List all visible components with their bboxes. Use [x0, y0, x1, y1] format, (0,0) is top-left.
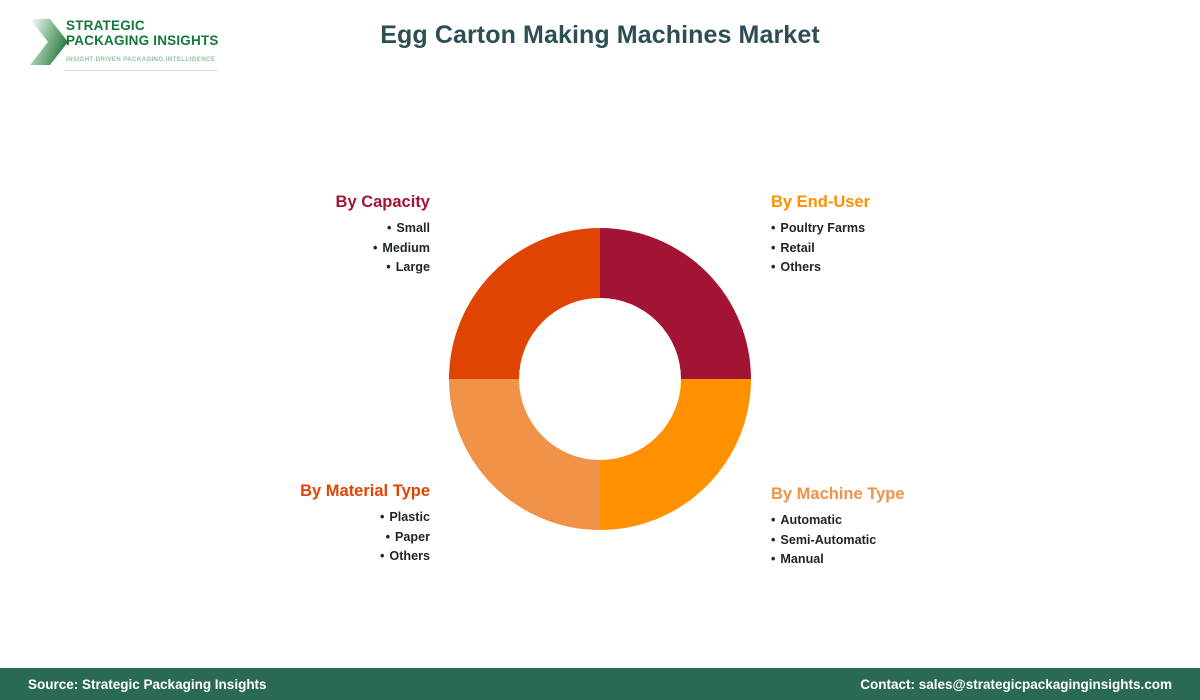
list-item: •Others — [771, 258, 1071, 278]
segment-machine-type-title: By Machine Type — [771, 485, 1071, 504]
donut-slice — [449, 379, 600, 530]
list-item-label: Small — [396, 221, 430, 235]
segment-capacity: By Capacity •Small •Medium •Large — [190, 193, 430, 278]
list-item-label: Poultry Farms — [780, 221, 865, 235]
logo-divider — [64, 70, 218, 71]
bullet-icon: • — [771, 533, 775, 547]
list-item: •Manual — [771, 550, 1071, 570]
list-item-label: Retail — [780, 241, 814, 255]
bullet-icon: • — [386, 530, 390, 544]
donut-chart — [449, 228, 751, 530]
list-item-label: Others — [780, 260, 821, 274]
segment-end-user-title: By End-User — [771, 193, 1071, 212]
list-item-label: Semi-Automatic — [780, 533, 876, 547]
footer-bar: Source: Strategic Packaging Insights Con… — [0, 668, 1200, 700]
page-title: Egg Carton Making Machines Market — [0, 21, 1200, 50]
segment-machine-type: By Machine Type •Automatic •Semi-Automat… — [771, 485, 1071, 570]
donut-slice — [600, 379, 751, 530]
list-item-label: Manual — [780, 552, 823, 566]
list-item-label: Others — [389, 549, 430, 563]
segment-material-type-list: •Plastic •Paper •Others — [190, 508, 430, 567]
list-item: •Medium — [190, 239, 430, 259]
bullet-icon: • — [387, 221, 391, 235]
bullet-icon: • — [380, 549, 384, 563]
list-item: •Semi-Automatic — [771, 531, 1071, 551]
list-item: •Plastic — [190, 508, 430, 528]
list-item-label: Automatic — [780, 513, 842, 527]
segment-capacity-list: •Small •Medium •Large — [190, 219, 430, 278]
list-item: •Poultry Farms — [771, 219, 1071, 239]
bullet-icon: • — [373, 241, 377, 255]
infographic-page: STRATEGIC PACKAGING INSIGHTS INSIGHT-DRI… — [0, 0, 1200, 700]
list-item: •Paper — [190, 528, 430, 548]
bullet-icon: • — [771, 260, 775, 274]
list-item-label: Paper — [395, 530, 430, 544]
list-item: •Others — [190, 547, 430, 567]
segment-material-type-title: By Material Type — [190, 482, 430, 501]
bullet-icon: • — [771, 241, 775, 255]
segment-machine-type-list: •Automatic •Semi-Automatic •Manual — [771, 511, 1071, 570]
list-item: •Large — [190, 258, 430, 278]
list-item: •Retail — [771, 239, 1071, 259]
footer-contact: Contact: sales@strategicpackaginginsight… — [860, 677, 1172, 692]
footer-source: Source: Strategic Packaging Insights — [28, 677, 267, 692]
logo-tagline: INSIGHT-DRIVEN PACKAGING INTELLIGENCE — [66, 56, 218, 63]
list-item: •Automatic — [771, 511, 1071, 531]
segment-capacity-title: By Capacity — [190, 193, 430, 212]
segment-material-type: By Material Type •Plastic •Paper •Others — [190, 482, 430, 567]
bullet-icon: • — [771, 552, 775, 566]
list-item-label: Large — [396, 260, 430, 274]
segment-end-user-list: •Poultry Farms •Retail •Others — [771, 219, 1071, 278]
donut-slice — [600, 228, 751, 379]
bullet-icon: • — [771, 221, 775, 235]
list-item-label: Plastic — [389, 510, 430, 524]
donut-slice — [449, 228, 600, 379]
bullet-icon: • — [771, 513, 775, 527]
list-item-label: Medium — [382, 241, 430, 255]
bullet-icon: • — [380, 510, 384, 524]
segment-end-user: By End-User •Poultry Farms •Retail •Othe… — [771, 193, 1071, 278]
list-item: •Small — [190, 219, 430, 239]
bullet-icon: • — [386, 260, 390, 274]
